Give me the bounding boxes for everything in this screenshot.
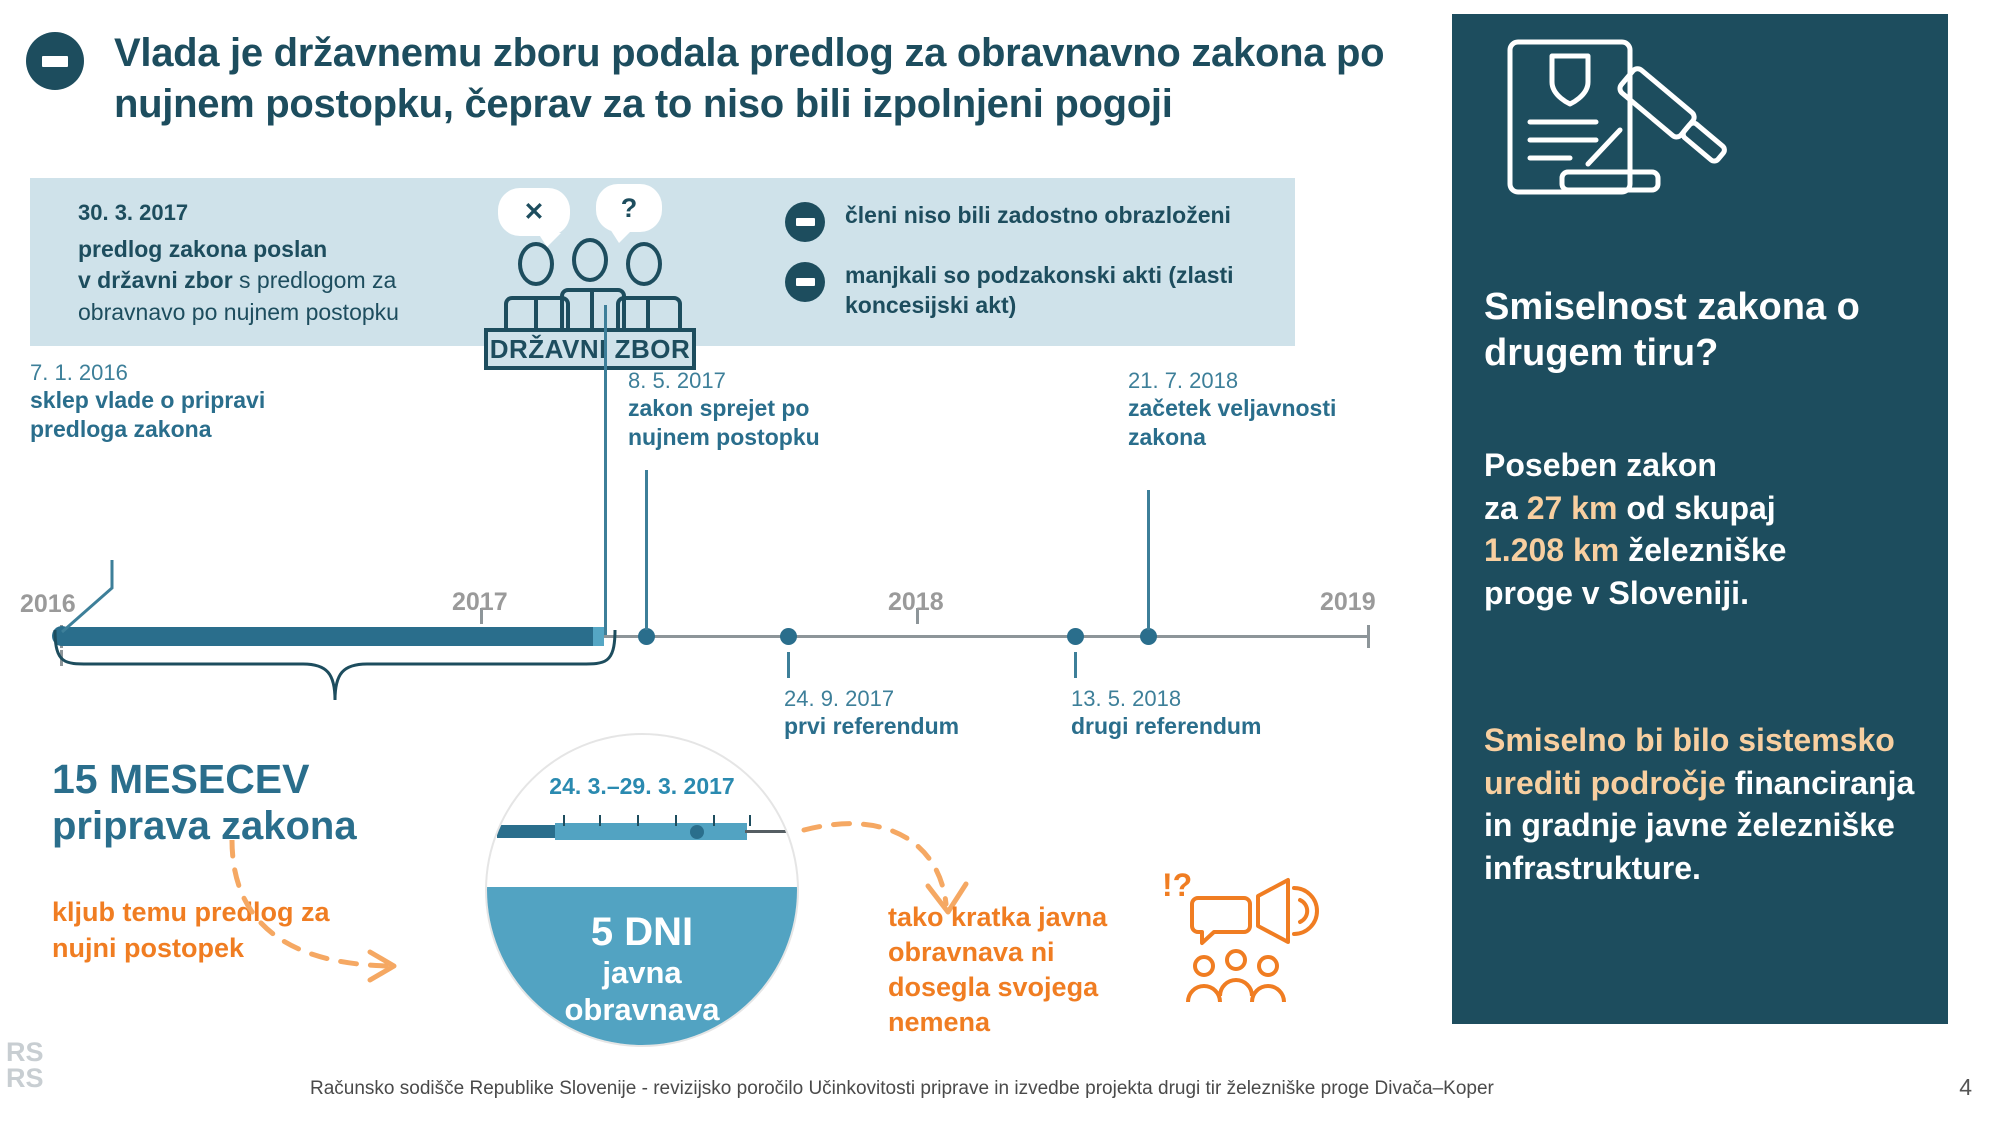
info-panel-bold-2: v državni zbor bbox=[78, 267, 233, 293]
callout-stem-angled bbox=[52, 560, 152, 640]
logo-rs: RS RS bbox=[6, 1040, 44, 1091]
person-head-icon bbox=[626, 242, 662, 286]
duration-block: 15 MESECEV priprava zakona bbox=[52, 755, 472, 851]
logo-line-2: RS bbox=[6, 1066, 44, 1092]
mini-tick bbox=[713, 815, 715, 826]
callout-date: 7. 1. 2016 bbox=[30, 360, 330, 386]
rp1-line4: proge v Sloveniji. bbox=[1484, 575, 1749, 611]
timeline-dot-2018-07-21[interactable] bbox=[1140, 628, 1157, 645]
timeline-callout-5: 13. 5. 2018 drugi referendum bbox=[1071, 686, 1311, 741]
mini-axis-line bbox=[745, 830, 797, 833]
minus-bar bbox=[796, 278, 815, 286]
minus-bar bbox=[42, 56, 68, 67]
right-panel: Smiselnost zakona o drugem tiru? Poseben… bbox=[1452, 14, 1948, 1024]
right-panel-paragraph-2: Smiselno bi bilo sistemsko urediti podro… bbox=[1484, 719, 1934, 889]
mini-timeline-dot bbox=[690, 825, 704, 839]
rp1-highlight-27km: 27 km bbox=[1527, 490, 1618, 526]
info-panel-date: 30. 3. 2017 bbox=[78, 200, 188, 226]
circle-big-value: 5 DNI bbox=[487, 910, 797, 954]
megaphone-crowd-icon: !? bbox=[1160, 862, 1320, 1022]
timeline-callout-3: 21. 7. 2018 začetek veljavnosti zakona bbox=[1128, 368, 1378, 452]
mini-tick bbox=[637, 815, 639, 826]
callout-stem bbox=[1074, 652, 1077, 678]
parliament-connector-stem bbox=[604, 305, 607, 635]
callout-stem bbox=[1147, 490, 1150, 630]
circle-date-range: 24. 3.–29. 3. 2017 bbox=[487, 773, 797, 800]
circle-sub-line-2: obravnava bbox=[487, 992, 797, 1029]
bubble-q-glyph: ? bbox=[621, 193, 638, 224]
year-label-2017: 2017 bbox=[452, 588, 508, 617]
timeline-callout-4: 24. 9. 2017 prvi referendum bbox=[784, 686, 1024, 741]
rp1-highlight-1208km: 1.208 km bbox=[1484, 532, 1619, 568]
dashed-arrow-left-icon bbox=[210, 840, 490, 990]
year-label-2018: 2018 bbox=[888, 588, 944, 617]
document-gavel-icon bbox=[1500, 34, 1750, 214]
bullet-text: manjkali so podzakonski akti (zlasti kon… bbox=[845, 260, 1255, 321]
mini-tick bbox=[563, 815, 565, 826]
svg-text:!?: !? bbox=[1162, 867, 1192, 903]
timeline-callout-2: 8. 5. 2017 zakon sprejet po nujnem posto… bbox=[628, 368, 858, 452]
mini-bar-light bbox=[555, 823, 747, 840]
minus-circle-icon bbox=[26, 32, 84, 90]
callout-desc: drugi referendum bbox=[1071, 712, 1311, 741]
info-panel: 30. 3. 2017 predlog zakona poslan v drža… bbox=[30, 178, 1295, 346]
info-panel-body: predlog zakona poslan v državni zbor s p… bbox=[78, 234, 458, 328]
speech-bubble-question-icon: ? bbox=[596, 184, 662, 232]
callout-date: 21. 7. 2018 bbox=[1128, 368, 1378, 394]
public-hearing-circle: 24. 3.–29. 3. 2017 5 DNI javna obravnava bbox=[487, 735, 797, 1045]
bubble-x-glyph: ✕ bbox=[524, 197, 545, 227]
info-panel-bullet-list: členi niso bili zadostno obrazloženi man… bbox=[785, 200, 1255, 339]
infographic-page: Vlada je državnemu zboru podala predlog … bbox=[0, 0, 2000, 1125]
right-panel-paragraph-1: Poseben zakon za 27 km od skupaj 1.208 k… bbox=[1484, 444, 1934, 614]
list-item: manjkali so podzakonski akti (zlasti kon… bbox=[785, 260, 1255, 321]
callout-desc: prvi referendum bbox=[784, 712, 1024, 741]
rp1-line2-post: od skupaj bbox=[1617, 490, 1775, 526]
timeline-callout-1: 7. 1. 2016 sklep vlade o pripravi predlo… bbox=[30, 360, 330, 444]
minus-bar bbox=[796, 218, 815, 226]
mini-tick bbox=[749, 815, 751, 826]
rp1-line1: Poseben zakon bbox=[1484, 447, 1717, 483]
callout-date: 24. 9. 2017 bbox=[784, 686, 1024, 712]
page-number: 4 bbox=[1959, 1074, 1972, 1101]
rp1-line3-post: železniške bbox=[1619, 532, 1786, 568]
circle-sub-line-1: javna bbox=[487, 955, 797, 992]
circle-mini-timeline bbox=[487, 815, 797, 845]
callout-stem bbox=[787, 652, 790, 678]
right-panel-title: Smiselnost zakona o drugem tiru? bbox=[1484, 284, 1924, 377]
info-panel-bold-1: predlog zakona poslan bbox=[78, 236, 327, 262]
timeline-dot-2017-05-08[interactable] bbox=[638, 628, 655, 645]
callout-desc: začetek veljavnosti zakona bbox=[1128, 394, 1378, 452]
callout-desc: sklep vlade o pripravi predloga zakona bbox=[30, 386, 330, 444]
mini-bar-dark bbox=[497, 825, 555, 838]
left-content-area: Vlada je državnemu zboru podala predlog … bbox=[0, 0, 1452, 1125]
duration-value: 15 MESECEV bbox=[52, 755, 472, 803]
callout-stem bbox=[645, 470, 648, 630]
callout-date: 13. 5. 2018 bbox=[1071, 686, 1311, 712]
page-title: Vlada je državnemu zboru podala predlog … bbox=[114, 28, 1416, 130]
person-head-icon bbox=[572, 238, 608, 282]
minus-circle-icon bbox=[785, 262, 825, 302]
duration-brace bbox=[45, 630, 625, 740]
podium-icon bbox=[616, 296, 682, 330]
year-label-2019: 2019 bbox=[1320, 588, 1376, 617]
logo-line-1: RS bbox=[6, 1040, 44, 1066]
bullet-text: členi niso bili zadostno obrazloženi bbox=[845, 200, 1231, 230]
timeline-dot-2018-05-13[interactable] bbox=[1067, 628, 1084, 645]
callout-date: 8. 5. 2017 bbox=[628, 368, 858, 394]
list-item: členi niso bili zadostno obrazloženi bbox=[785, 200, 1255, 242]
footer-note: Računsko sodišče Republike Slovenije - r… bbox=[310, 1078, 1710, 1100]
axis-end-cap bbox=[1367, 625, 1370, 648]
person-head-icon bbox=[518, 242, 554, 286]
circle-sub-label: javna obravnava bbox=[487, 955, 797, 1028]
orange-note-right: tako kratka javna obravnava ni dosegla s… bbox=[888, 900, 1148, 1040]
minus-circle-icon bbox=[785, 202, 825, 242]
callout-desc: zakon sprejet po nujnem postopku bbox=[628, 394, 858, 452]
header: Vlada je državnemu zboru podala predlog … bbox=[26, 28, 1416, 130]
mini-tick bbox=[599, 815, 601, 826]
timeline-dot-2017-09-24[interactable] bbox=[780, 628, 797, 645]
bubble-tail bbox=[610, 229, 633, 243]
speech-bubble-x-icon: ✕ bbox=[498, 188, 570, 236]
rp1-line2-pre: za bbox=[1484, 490, 1527, 526]
mini-tick bbox=[675, 815, 677, 826]
parliament-illustration: ✕ ? DRŽA bbox=[496, 188, 726, 348]
